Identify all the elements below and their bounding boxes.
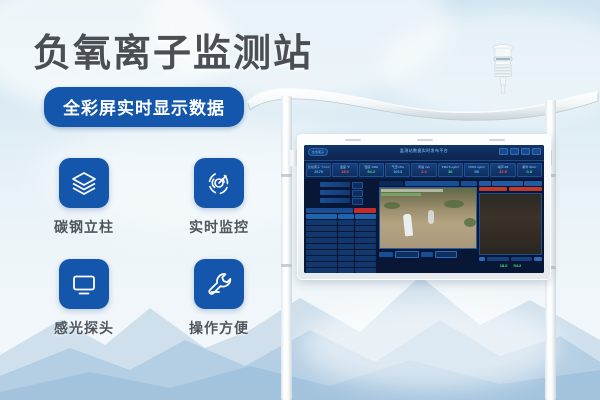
table-cell — [338, 232, 354, 237]
table-row[interactable] — [306, 268, 376, 273]
table-cell — [355, 268, 376, 273]
kpi-value: 18.6 — [333, 169, 356, 174]
table-cell — [338, 250, 354, 255]
feature-item-realtime-monitoring[interactable]: 实时监控 — [179, 158, 259, 237]
dashboard-title: 监测站数据实时发布平台 — [400, 148, 448, 154]
mini-stat-label — [320, 198, 350, 203]
kpi-value: 0.8 — [518, 169, 541, 174]
reading-values: 18.6 54.2 — [479, 263, 542, 268]
vent-slot — [417, 139, 433, 141]
mini-stat — [306, 198, 376, 205]
alert-panel: 18.6 54.2 — [478, 179, 544, 273]
kpi-value: 42.8 — [491, 169, 514, 174]
toolbar-icon[interactable] — [499, 148, 508, 155]
kpi-card: 负氧离子 个/cm³2676 — [306, 163, 331, 177]
feature-label: 实时监控 — [179, 217, 259, 237]
table-cell — [338, 226, 354, 231]
column-header-time — [306, 214, 337, 219]
table-cell — [355, 226, 376, 231]
mini-stat-value — [352, 190, 363, 197]
feature-item-easy-operation[interactable]: 操作方便 — [179, 259, 259, 338]
table-row[interactable] — [306, 250, 376, 255]
table-header-row — [306, 214, 376, 219]
video-panel — [378, 179, 478, 273]
more-link[interactable] — [524, 181, 542, 186]
table-cell — [355, 238, 376, 243]
subtitle-badge: 全彩屏实时显示数据 — [44, 87, 244, 127]
vent-slot — [345, 139, 361, 141]
kpi-value: 2676 — [307, 169, 330, 174]
led-screen[interactable]: 负氧离子 监测站数据实时发布平台 负氧离子 个/cm³2676温度 ℃18.6湿… — [304, 145, 544, 273]
video-controls — [379, 251, 477, 258]
reading-value: 18.6 — [500, 263, 508, 268]
dashboard-logo: 负氧离子 — [308, 148, 328, 156]
table-cell — [306, 220, 337, 225]
table-row[interactable] — [306, 256, 376, 261]
quality-select[interactable] — [435, 251, 457, 258]
kpi-value: 58 — [465, 169, 488, 174]
channel-label — [379, 252, 393, 257]
table-cell — [306, 244, 337, 249]
kpi-card: 风速 m/s2.4 — [411, 163, 436, 177]
table-row[interactable] — [306, 220, 376, 225]
tab-info[interactable] — [492, 181, 523, 186]
kpi-card: 温度 ℃18.6 — [332, 163, 357, 177]
promo-banner: 负氧离子监测站 全彩屏实时显示数据 碳钢立柱 — [0, 0, 600, 400]
table-cell — [355, 262, 376, 267]
mini-stat — [306, 182, 376, 189]
table-body — [306, 220, 376, 273]
video-subject — [403, 214, 413, 237]
table-cell — [306, 238, 337, 243]
table-tag — [306, 208, 353, 213]
feature-item-steel-pole[interactable]: 碳钢立柱 — [44, 158, 124, 237]
table-cell — [355, 220, 376, 225]
toolbar-icon[interactable] — [521, 148, 530, 155]
reading-value: 54.2 — [514, 263, 522, 268]
steel-pole-left — [281, 96, 292, 400]
table-row[interactable] — [306, 238, 376, 243]
alert-item[interactable] — [509, 187, 542, 191]
toolbar-icon[interactable] — [510, 148, 519, 155]
kpi-value: 36 — [439, 169, 462, 174]
kpi-value: 1013 — [386, 169, 409, 174]
mini-stat-list — [306, 182, 376, 205]
mini-stat — [306, 190, 376, 197]
video-feed[interactable] — [379, 187, 477, 249]
column-header-value — [355, 214, 376, 219]
feature-item-light-sensor[interactable]: 感光探头 — [44, 259, 124, 338]
video-osd-title — [381, 189, 443, 192]
feature-label: 操作方便 — [179, 318, 259, 338]
table-row[interactable] — [306, 226, 376, 231]
video-subject — [428, 210, 434, 224]
table-cell — [306, 250, 337, 255]
feature-grid: 碳钢立柱 实时监控 — [44, 158, 259, 338]
kpi-value: 54.2 — [360, 169, 383, 174]
toolbar-icon[interactable] — [532, 148, 541, 155]
alert-item[interactable] — [479, 187, 507, 191]
table-cell — [306, 232, 337, 237]
kpi-card: 湿度 %RH54.2 — [359, 163, 384, 177]
tab-warning[interactable] — [479, 181, 491, 186]
table-row[interactable] — [306, 244, 376, 249]
kpi-card: PM10 ug/m³58 — [464, 163, 489, 177]
table-cell — [338, 238, 354, 243]
data-table-panel — [304, 179, 378, 273]
kpi-card: 气压 hPa1013 — [385, 163, 410, 177]
video-path-bar — [405, 181, 459, 186]
feature-label: 碳钢立柱 — [44, 217, 124, 237]
dashboard-header: 负氧离子 监测站数据实时发布平台 — [304, 145, 544, 161]
table-cell — [338, 268, 354, 273]
monitor-icon — [59, 259, 109, 309]
dashboard-toolbar[interactable] — [499, 148, 541, 155]
table-cell — [306, 262, 337, 267]
video-toolbar — [379, 181, 477, 186]
site-photo — [479, 193, 542, 255]
video-tab[interactable] — [379, 181, 403, 186]
table-cell — [355, 232, 376, 237]
alert-footer — [479, 257, 542, 261]
table-cell — [338, 256, 354, 261]
table-cell — [338, 244, 354, 249]
mini-stat-value — [352, 182, 363, 189]
table-cell — [306, 268, 337, 273]
feature-label: 感光探头 — [44, 318, 124, 338]
table-cell — [355, 256, 376, 261]
video-dropdown[interactable] — [461, 181, 477, 186]
kpi-row: 负氧离子 个/cm³2676温度 ℃18.6湿度 %RH54.2气压 hPa10… — [304, 161, 544, 179]
display-cabinet: 负氧离子 监测站数据实时发布平台 负氧离子 个/cm³2676温度 ℃18.6湿… — [297, 134, 551, 280]
table-cell — [338, 220, 354, 225]
kpi-value: 2.4 — [412, 169, 435, 174]
kpi-card: PM2.5 ug/m³36 — [438, 163, 463, 177]
dashboard-body: 18.6 54.2 — [304, 179, 544, 273]
quality-label — [421, 252, 433, 257]
table-cell — [306, 226, 337, 231]
mini-stat-value — [352, 198, 363, 205]
radar-icon — [194, 158, 244, 208]
table-cell — [355, 250, 376, 255]
table-row[interactable] — [306, 262, 376, 267]
wrench-icon — [194, 259, 244, 309]
alert-tabs[interactable] — [479, 181, 542, 186]
table-toolbar — [306, 208, 376, 213]
channel-select[interactable] — [395, 251, 419, 258]
video-osd-time — [381, 193, 421, 196]
kpi-card: 噪声 dB42.8 — [490, 163, 515, 177]
table-cell — [306, 256, 337, 261]
layers-icon — [59, 158, 109, 208]
column-header-item — [338, 214, 354, 219]
mini-stat-label — [320, 190, 350, 195]
table-row[interactable] — [306, 232, 376, 237]
page-title: 负氧离子监测站 — [33, 22, 313, 77]
alert-list — [479, 187, 542, 191]
cloud-decoration — [300, 300, 560, 390]
alarm-badge[interactable] — [354, 208, 376, 213]
table-cell — [355, 244, 376, 249]
mini-stat-label — [320, 182, 350, 187]
table-cell — [338, 262, 354, 267]
kpi-card: 紫外 W/m²0.8 — [517, 163, 542, 177]
vent-slot — [489, 139, 505, 141]
